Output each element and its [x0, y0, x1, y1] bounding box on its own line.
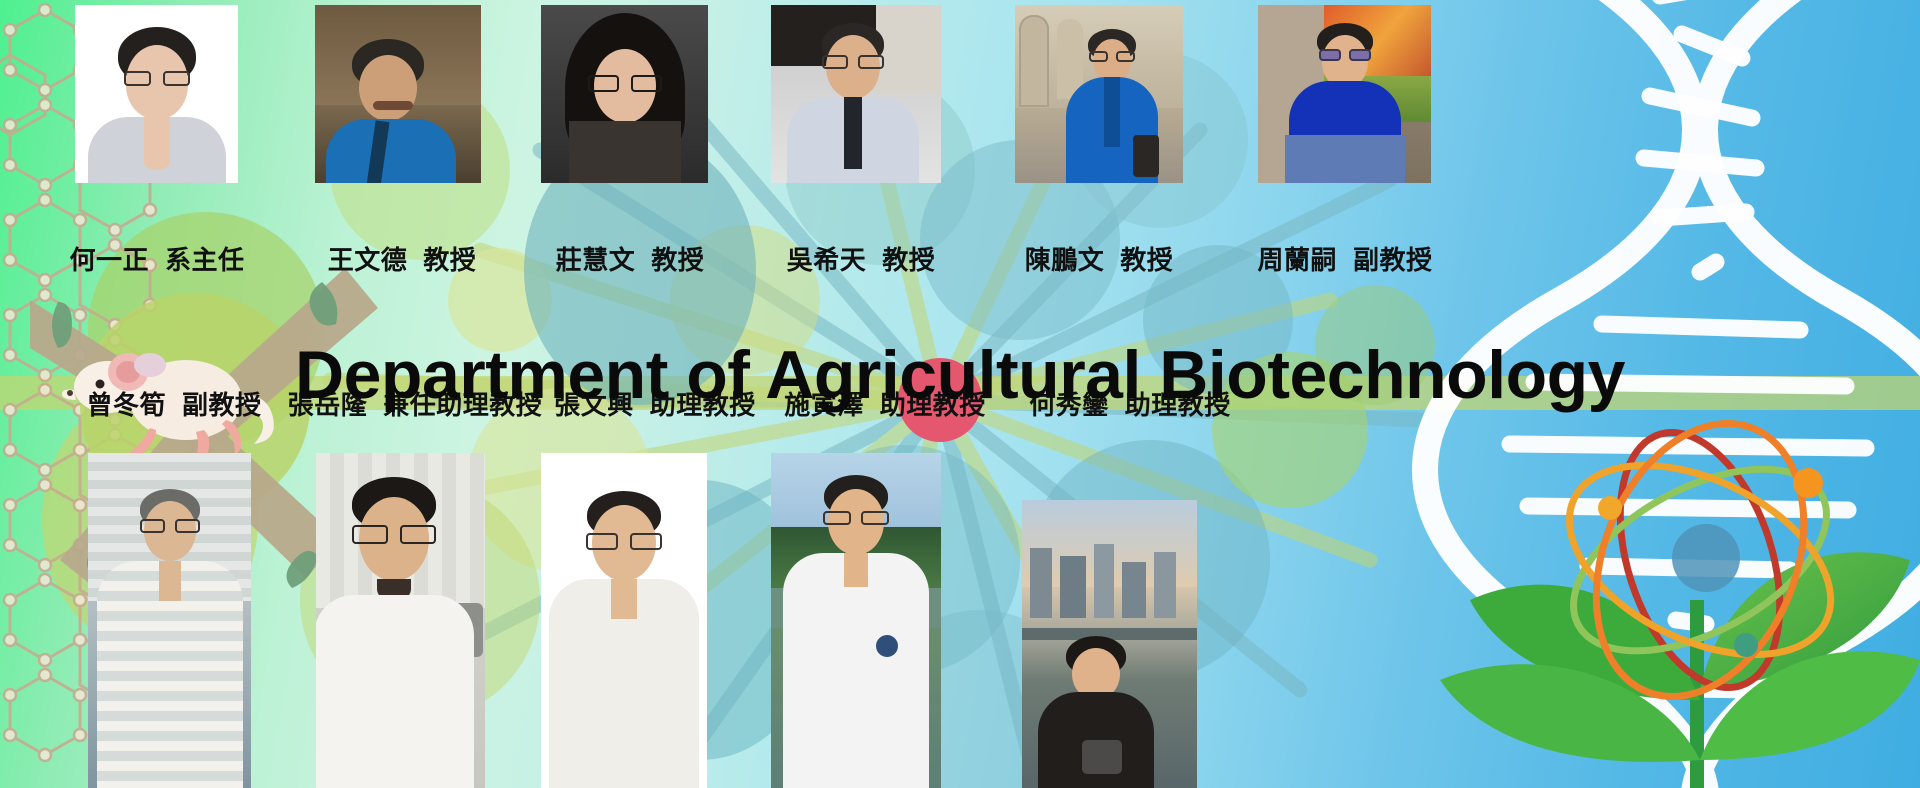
- faculty-name: 莊慧文: [556, 245, 636, 275]
- photo-zhuang-hui-wen[interactable]: [541, 5, 708, 183]
- photo-shi-yin-ze[interactable]: [771, 453, 941, 788]
- faculty-rank: 副教授: [1353, 245, 1433, 275]
- faculty-label: 吳希天教授: [727, 240, 995, 277]
- faculty-label: 莊慧文教授: [496, 240, 764, 277]
- faculty-rank: 教授: [882, 245, 935, 275]
- photo-wang-wen-de[interactable]: [315, 5, 481, 183]
- photo-he-yi-zheng[interactable]: [75, 5, 238, 183]
- faculty-label: 周蘭嗣副教授: [1200, 240, 1490, 277]
- faculty-label: 陳鵬文教授: [965, 240, 1233, 277]
- photo-zhang-wen-xing[interactable]: [541, 453, 707, 788]
- faculty-name: 吳希天: [787, 245, 867, 275]
- faculty-rank: 教授: [651, 245, 704, 275]
- faculty-row-top: 何一正系主任 王文德教授: [0, 0, 1920, 235]
- faculty-row-bottom: 曾冬筍副教授 張岳隆兼任助理教授: [0, 460, 1920, 788]
- faculty-name: 何一正: [69, 245, 149, 275]
- department-banner: Department of Agricultural Biotechnology…: [0, 0, 1920, 788]
- faculty-rank: 系主任: [165, 245, 245, 275]
- faculty-name: 陳鵬文: [1025, 245, 1105, 275]
- faculty-name: 王文德: [328, 245, 408, 275]
- faculty-rank: 教授: [423, 245, 476, 275]
- photo-zeng-dong-sun[interactable]: [88, 453, 251, 788]
- faculty-label: 何一正系主任: [23, 240, 291, 277]
- faculty-rank: 教授: [1120, 245, 1173, 275]
- photo-zhou-lan-si[interactable]: [1258, 5, 1431, 183]
- page-title: Department of Agricultural Biotechnology: [0, 336, 1920, 414]
- faculty-name: 周蘭嗣: [1257, 245, 1337, 275]
- photo-chen-peng-wen[interactable]: [1015, 5, 1183, 183]
- photo-wu-xi-tian[interactable]: [771, 5, 941, 183]
- photo-zhang-yue-long[interactable]: [316, 453, 485, 788]
- photo-he-xiu-luan[interactable]: [1022, 500, 1197, 788]
